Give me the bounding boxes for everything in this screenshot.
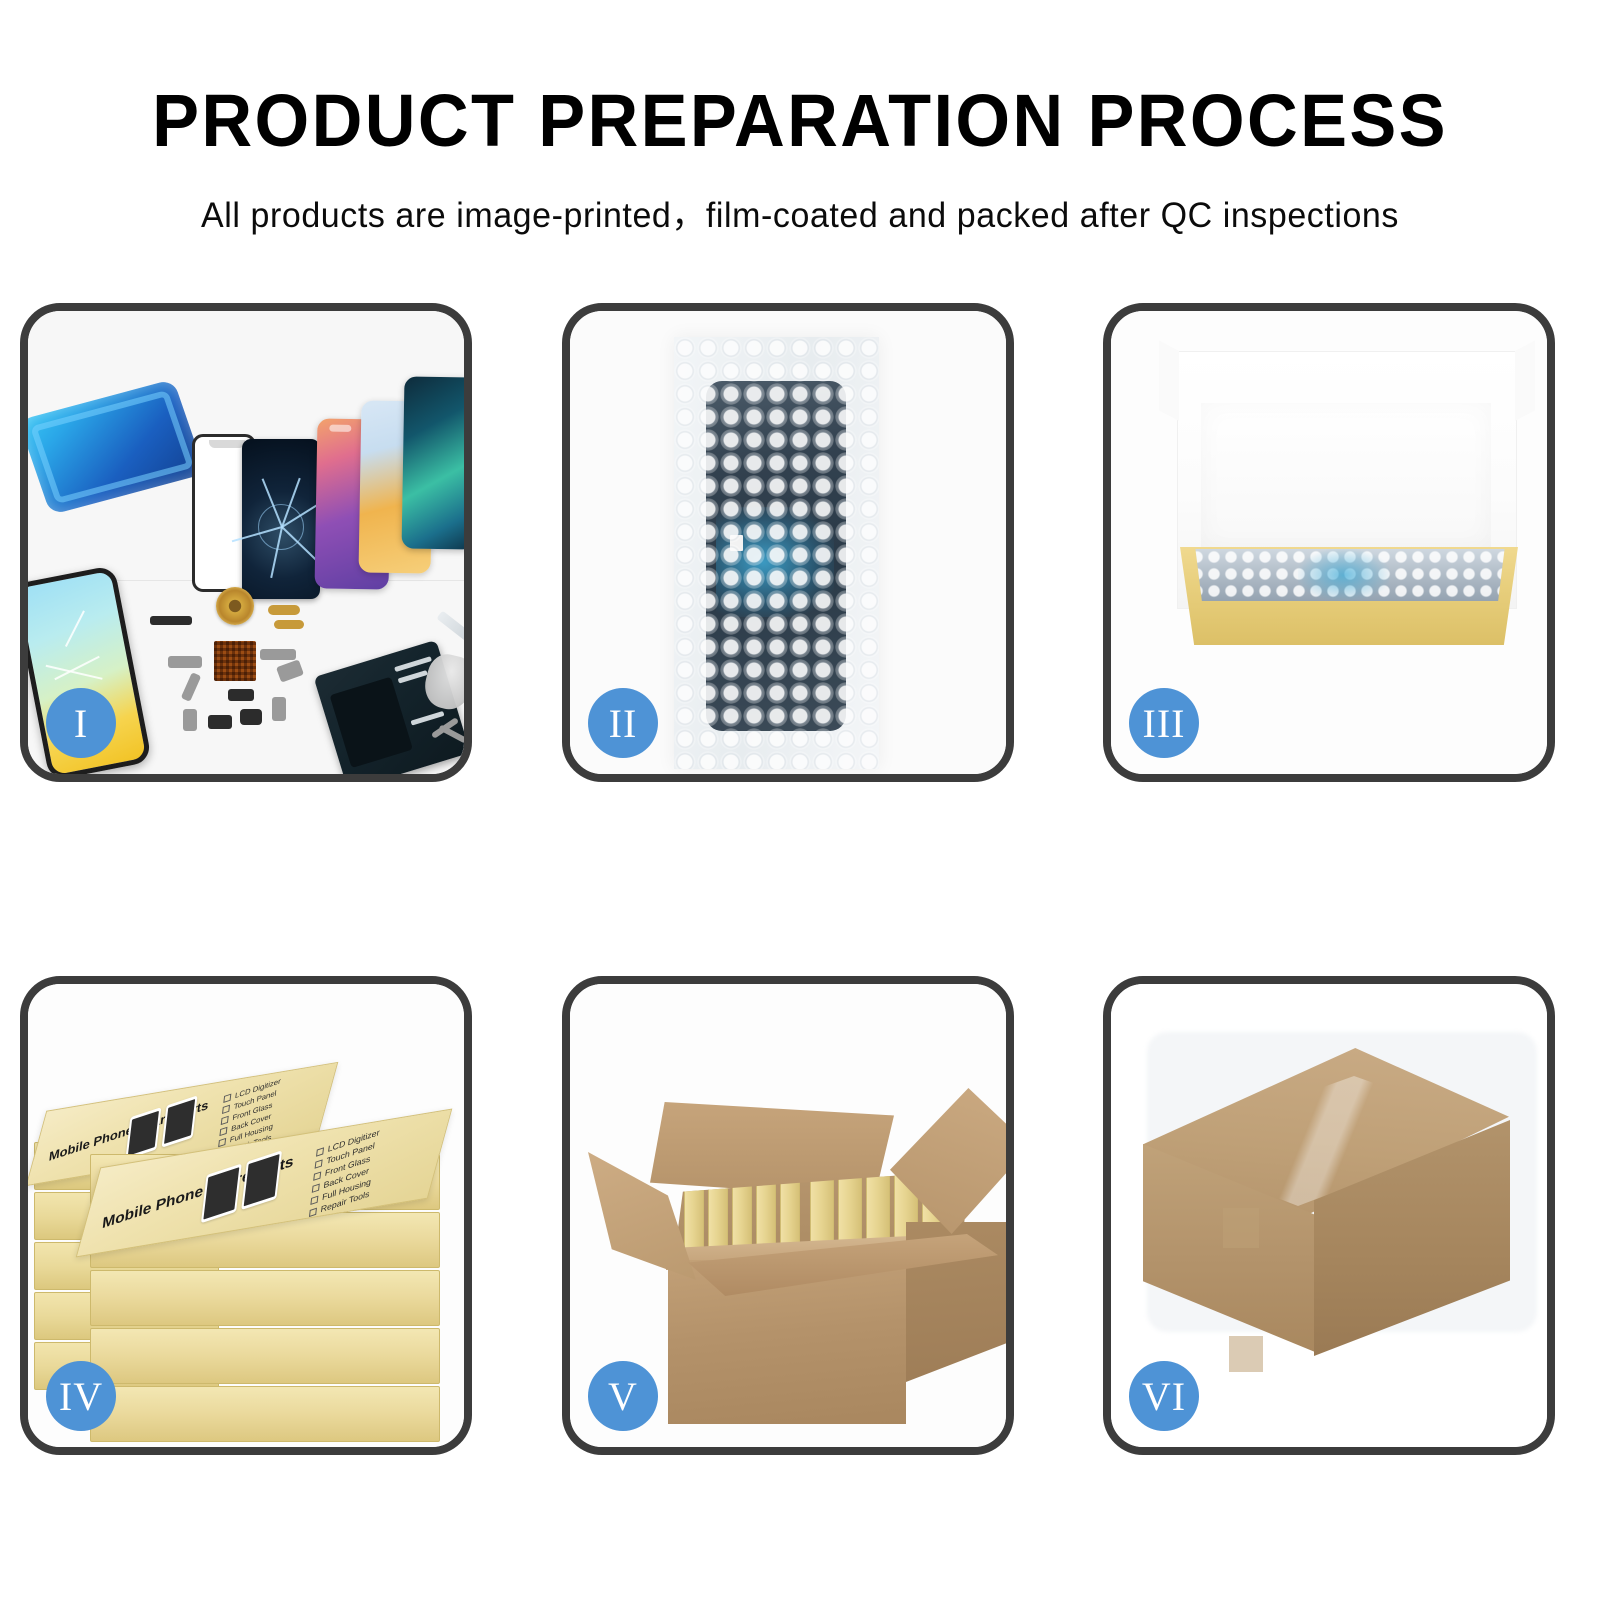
bubble-wrap-bag (674, 337, 879, 769)
ic-chip (228, 689, 254, 701)
foam-insert (1201, 403, 1491, 548)
earpiece-mesh (240, 709, 262, 725)
step-panel-6[interactable]: VI (1103, 976, 1555, 1455)
step-badge-6: VI (1129, 1361, 1199, 1431)
volume-flex (181, 672, 202, 702)
charging-port (208, 715, 232, 729)
sim-tray (183, 709, 197, 731)
step-badge-3: III (1129, 688, 1199, 758)
retail-box-thumbnails-front (201, 1150, 282, 1223)
retail-box-thumbnails-rear (125, 1095, 197, 1159)
step-panel-5[interactable]: V (562, 976, 1014, 1455)
product-preparation-infographic: PRODUCT PREPARATION PROCESS All products… (0, 0, 1600, 1600)
step-badge-5: V (588, 1361, 658, 1431)
step-panel-2[interactable]: II (562, 303, 1014, 782)
flex-cable-2 (274, 620, 304, 629)
process-steps-grid: I II (0, 0, 1600, 1600)
packed-product-in-tray (1189, 549, 1511, 601)
connector-strip (260, 649, 296, 660)
step-panel-4[interactable]: Mobile Phone Spare Parts LCD Digitizer T… (20, 976, 472, 1455)
step-badge-1: I (46, 688, 116, 758)
cracked-display-part (242, 439, 320, 599)
camera-flex (168, 656, 202, 668)
tape-patch-upper (1223, 1208, 1259, 1248)
retail-box-checklist-front: LCD Digitizer Touch Panel Front Glass Ba… (309, 1127, 381, 1220)
vibration-motor (272, 697, 286, 721)
speaker-module (150, 616, 192, 625)
wireless-charging-coil (216, 587, 254, 625)
step-panel-3[interactable]: III (1103, 303, 1555, 782)
step-badge-2: II (588, 688, 658, 758)
logic-board-chip (214, 641, 256, 681)
antenna-flex (276, 659, 304, 682)
tape-patch-lower (1229, 1336, 1263, 1372)
step-badge-4: IV (46, 1361, 116, 1431)
flex-cable-1 (268, 605, 300, 615)
teal-phone-display (402, 376, 464, 549)
adhesive-frame-part (28, 379, 206, 515)
step-panel-1[interactable]: I (20, 303, 472, 782)
